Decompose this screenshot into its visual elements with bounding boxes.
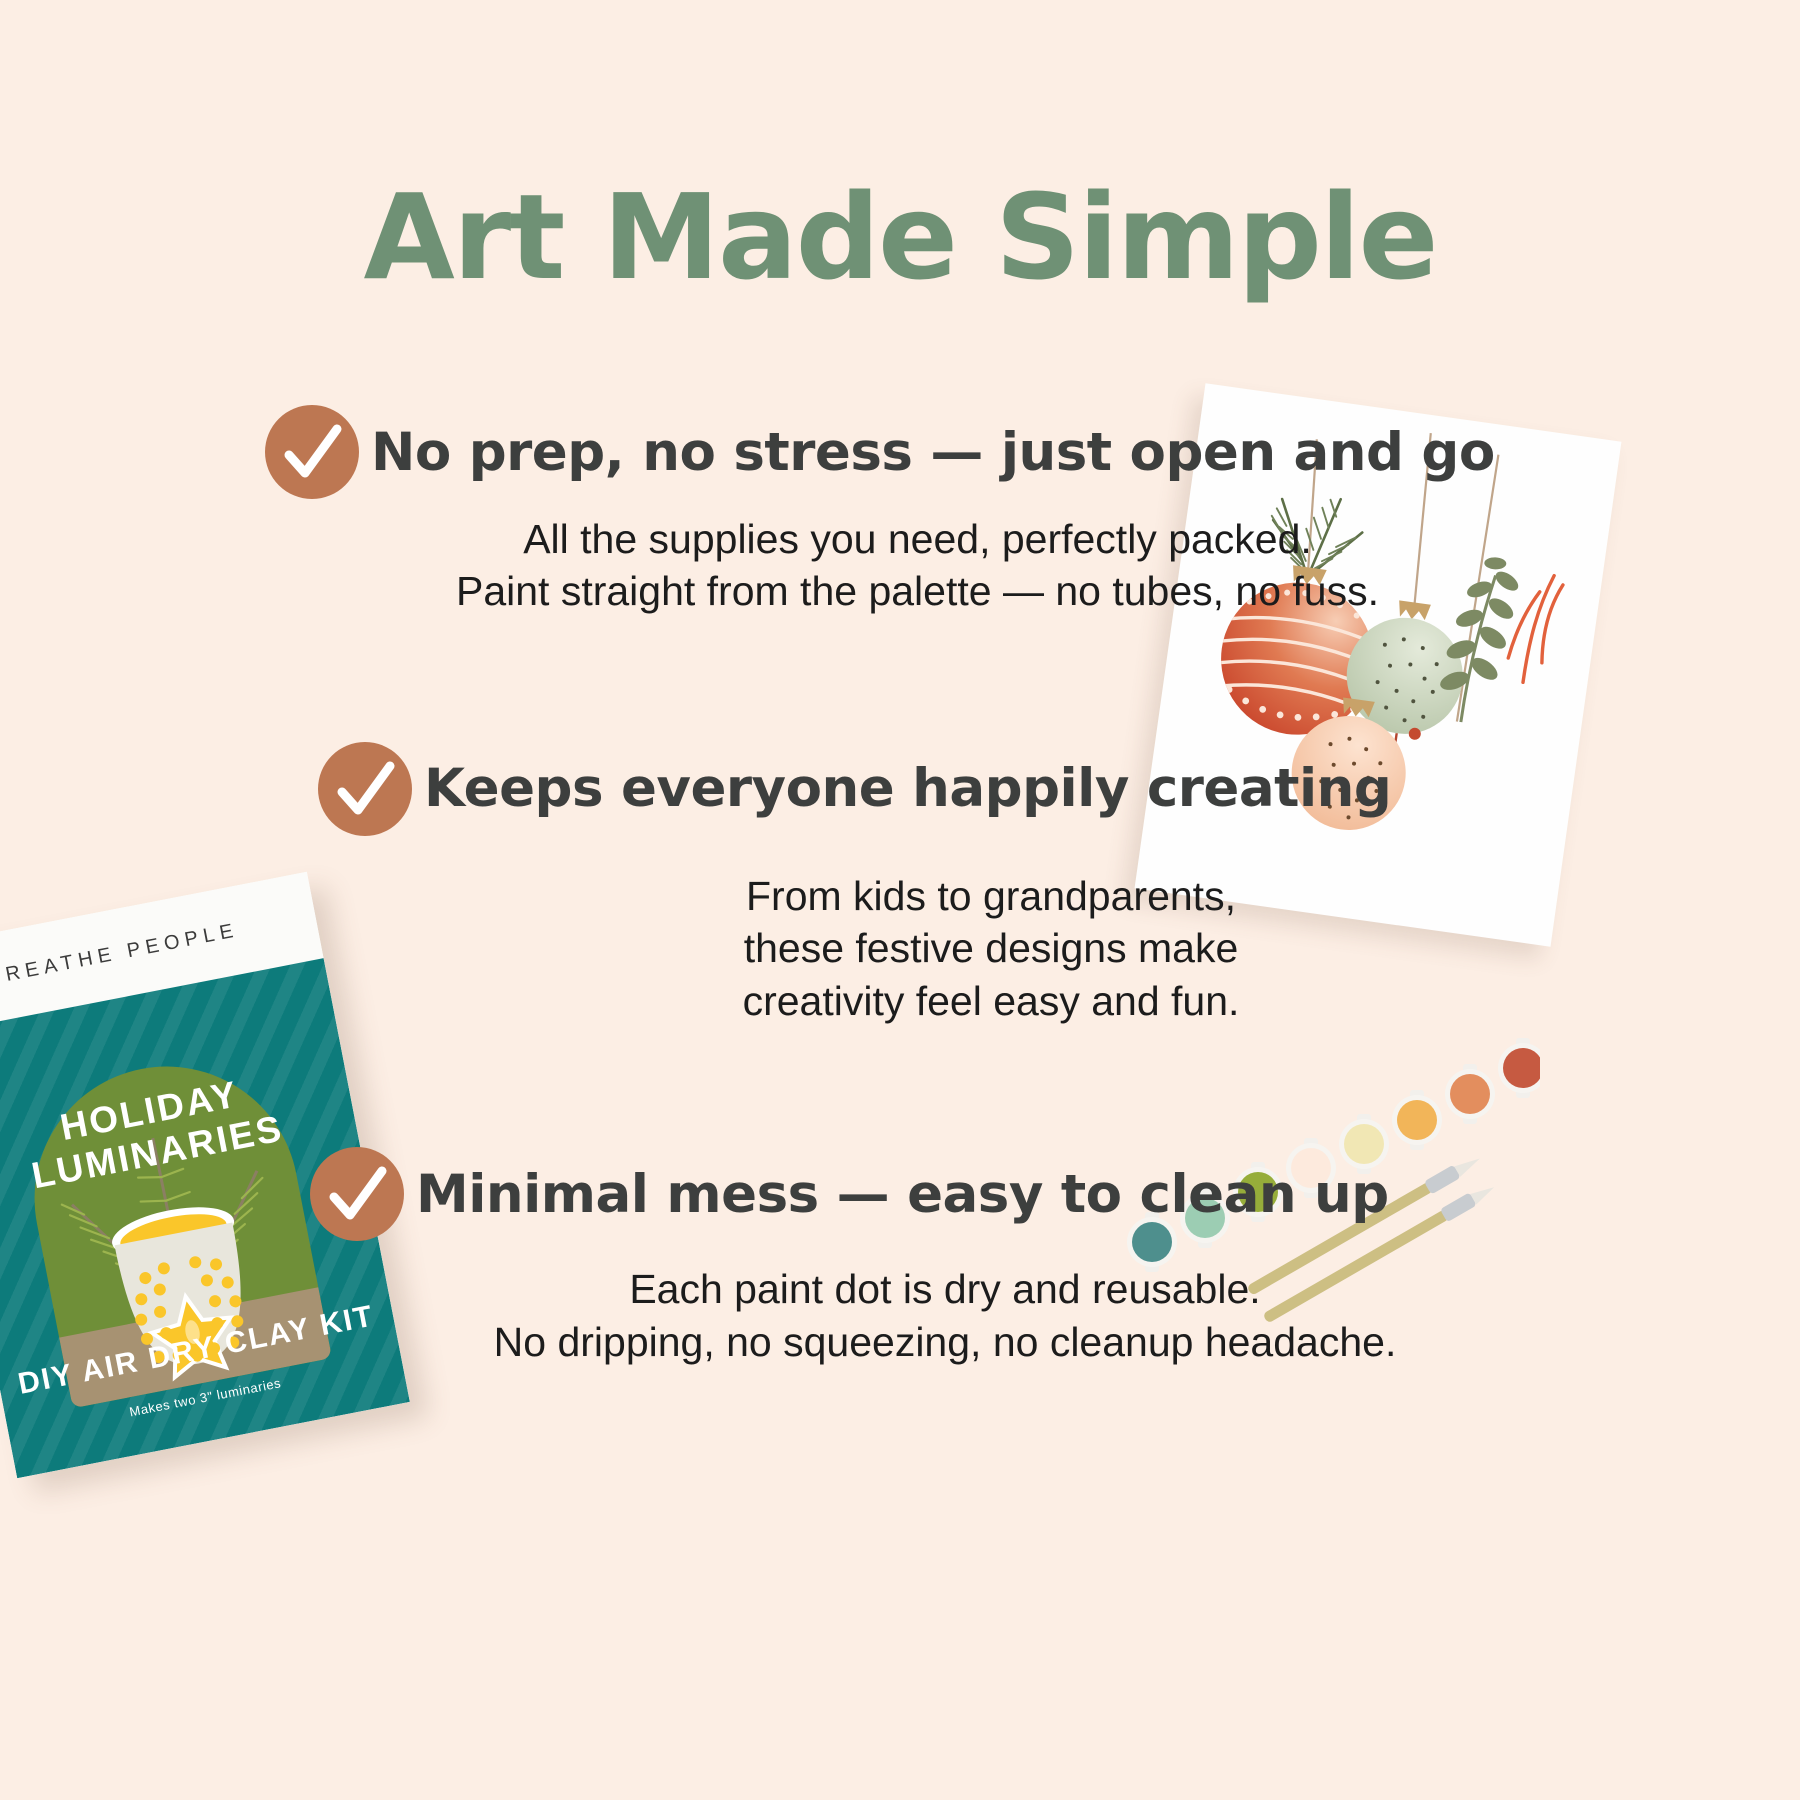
feature-header: Minimal mess — easy to clean up xyxy=(310,1147,1450,1241)
feature-description: All the supplies you need, perfectly pac… xyxy=(265,513,1450,618)
check-circle-icon xyxy=(265,405,359,499)
feature-header: No prep, no stress — just open and go xyxy=(265,405,1450,499)
feature-title: Keeps everyone happily creating xyxy=(424,758,1391,819)
feature-description: Each paint dot is dry and reusable. No d… xyxy=(310,1263,1450,1368)
feature-title: No prep, no stress — just open and go xyxy=(371,422,1495,483)
feature-item-minimal-mess: Minimal mess — easy to clean up Each pai… xyxy=(0,1147,1450,1368)
feature-item-no-prep: No prep, no stress — just open and go Al… xyxy=(0,405,1450,618)
feature-header: Keeps everyone happily creating xyxy=(318,742,1450,836)
feature-description: From kids to grandparents, these festive… xyxy=(318,870,1450,1027)
page-title: Art Made Simple xyxy=(0,178,1800,296)
check-circle-icon xyxy=(310,1147,404,1241)
feature-title: Minimal mess — easy to clean up xyxy=(416,1164,1389,1225)
check-circle-icon xyxy=(318,742,412,836)
feature-item-happily-creating: Keeps everyone happily creating From kid… xyxy=(0,742,1450,1027)
feature-list: No prep, no stress — just open and go Al… xyxy=(0,405,1450,1368)
